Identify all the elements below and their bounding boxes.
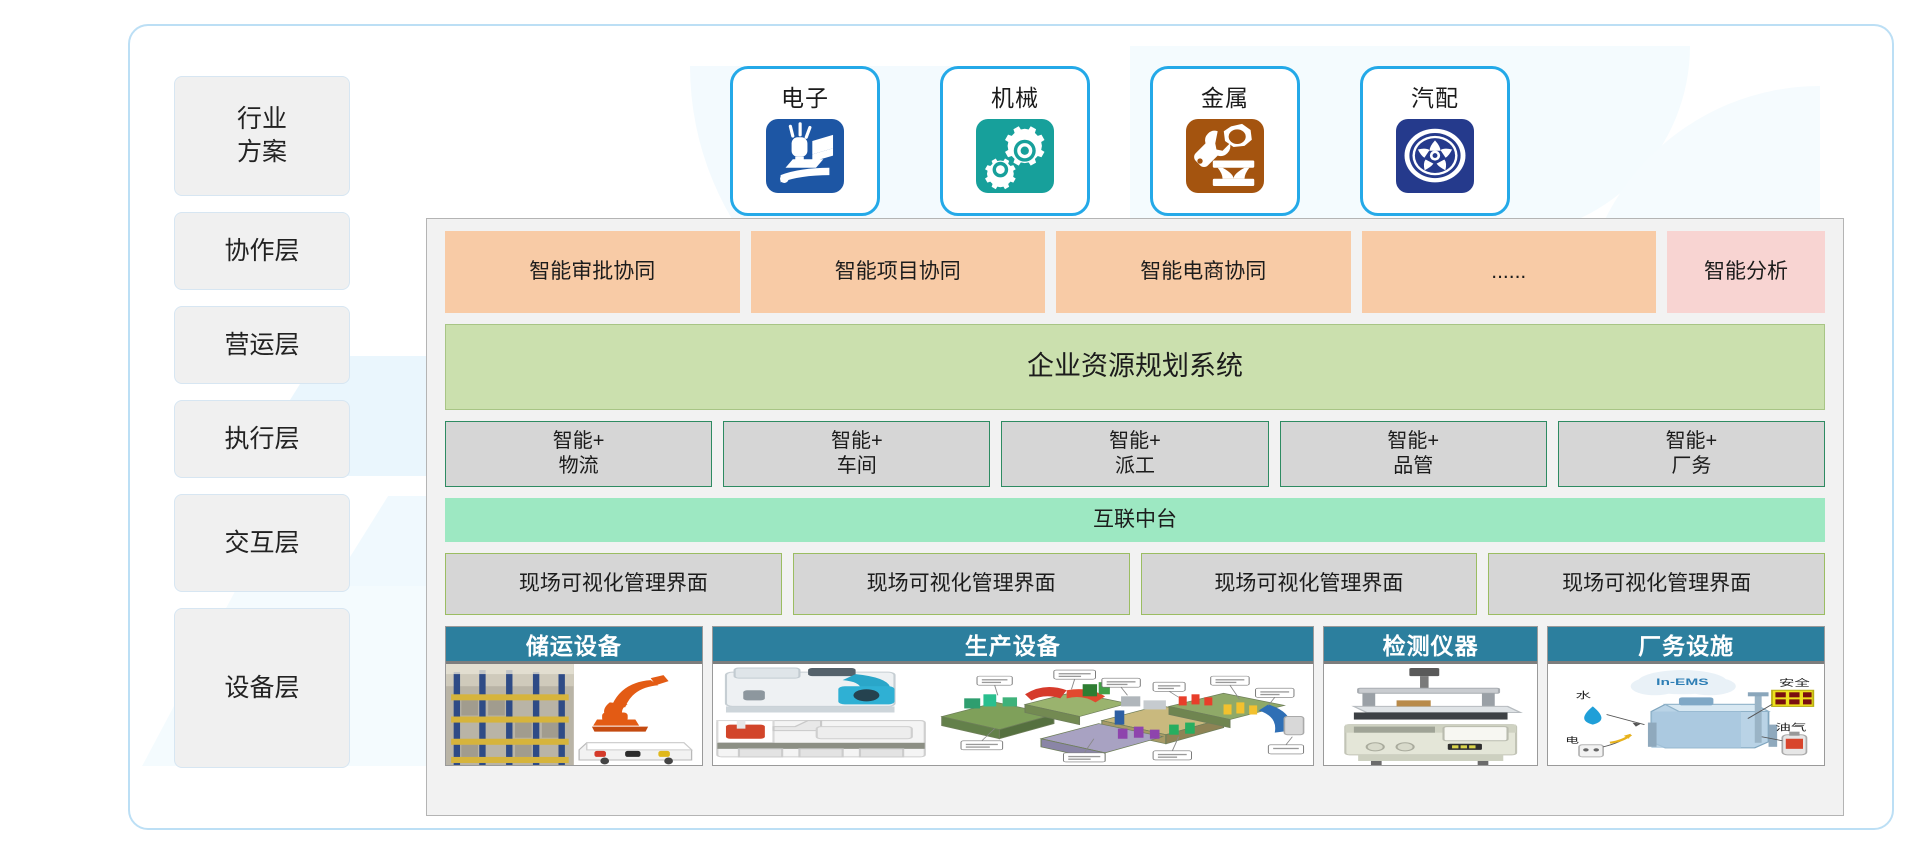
sidebar-item-label: 营运层 xyxy=(224,329,299,362)
warehouse-racking-photo xyxy=(446,664,574,765)
architecture-stack-panel: 智能审批协同 智能项目协同 智能电商协同 ...... 智能分析 企业资源规划系… xyxy=(426,218,1844,816)
wheel-rim-icon xyxy=(1396,119,1474,193)
svg-text:电: 电 xyxy=(1566,736,1580,745)
sidebar-item-label: 执行层 xyxy=(224,423,299,456)
industry-card-metal[interactable]: 金属 xyxy=(1150,66,1300,216)
sidebar-item-operation-layer[interactable]: 营运层 xyxy=(174,306,350,384)
operation-layer-row: 企业资源规划系统 xyxy=(445,324,1825,410)
svg-text:油气: 油气 xyxy=(1776,722,1807,733)
factory-layout-3d-diagram xyxy=(929,664,1313,765)
equipment-images xyxy=(446,661,702,765)
cmm-and-tester-photo xyxy=(1324,664,1537,765)
exec-cell-logistics[interactable]: 智能+ 物流 xyxy=(445,421,712,487)
equipment-column-title: 厂务设施 xyxy=(1548,627,1824,661)
equipment-layer-row: 储运设备 xyxy=(445,626,1825,766)
equipment-column-inspection[interactable]: 检测仪器 xyxy=(1323,626,1538,766)
sidebar-item-industry-solutions[interactable]: 行业 方案 xyxy=(174,76,350,196)
collab-cell-ecommerce[interactable]: 智能电商协同 xyxy=(1056,231,1351,313)
sidebar-item-execution-layer[interactable]: 执行层 xyxy=(174,400,350,478)
industry-card-auto-parts[interactable]: 汽配 xyxy=(1360,66,1510,216)
equipment-column-facility[interactable]: 厂务设施 In-EMS xyxy=(1547,626,1825,766)
svg-text:In-EMS: In-EMS xyxy=(1656,677,1708,687)
wrench-anvil-icon xyxy=(1186,119,1264,193)
industry-card-label: 机械 xyxy=(991,79,1039,113)
electronics-icon xyxy=(766,119,844,193)
equipment-column-title: 生产设备 xyxy=(713,627,1313,661)
equipment-images xyxy=(1324,661,1537,765)
industry-card-label: 金属 xyxy=(1201,79,1249,113)
equipment-column-storage[interactable]: 储运设备 xyxy=(445,626,703,766)
interaction-cell-2[interactable]: 现场可视化管理界面 xyxy=(793,553,1130,615)
industry-card-label: 电子 xyxy=(781,79,829,113)
exec-cell-quality[interactable]: 智能+ 品管 xyxy=(1280,421,1547,487)
industry-card-machinery[interactable]: 机械 xyxy=(940,66,1090,216)
sidebar-item-interaction-layer[interactable]: 交互层 xyxy=(174,494,350,592)
interaction-cell-4[interactable]: 现场可视化管理界面 xyxy=(1488,553,1825,615)
equipment-column-title: 储运设备 xyxy=(446,627,702,661)
middleware-row: 互联中台 xyxy=(445,498,1825,542)
equipment-images xyxy=(713,661,1313,765)
exec-cell-dispatch[interactable]: 智能+ 派工 xyxy=(1001,421,1268,487)
cnc-lathe-and-injection-molder-photo xyxy=(713,664,929,765)
collab-cell-more[interactable]: ...... xyxy=(1362,231,1657,313)
industry-card-row: 电子 xyxy=(730,66,1510,216)
svg-text:安全: 安全 xyxy=(1779,678,1810,689)
industry-card-label: 汽配 xyxy=(1411,79,1459,113)
exec-cell-workshop[interactable]: 智能+ 车间 xyxy=(723,421,990,487)
sidebar-item-collaboration-layer[interactable]: 协作层 xyxy=(174,212,350,290)
collab-cell-project[interactable]: 智能项目协同 xyxy=(751,231,1046,313)
gears-icon xyxy=(976,119,1054,193)
layer-rail: 行业 方案 协作层 营运层 执行层 交互层 设备层 xyxy=(174,76,350,784)
collab-cell-analytics[interactable]: 智能分析 xyxy=(1667,231,1825,313)
svg-text:水: 水 xyxy=(1576,690,1592,700)
middleware-band[interactable]: 互联中台 xyxy=(445,498,1825,542)
erp-band[interactable]: 企业资源规划系统 xyxy=(445,324,1825,410)
industry-card-electronics[interactable]: 电子 xyxy=(730,66,880,216)
interaction-cell-3[interactable]: 现场可视化管理界面 xyxy=(1141,553,1478,615)
sidebar-item-label: 协作层 xyxy=(224,235,299,268)
collab-cell-approval[interactable]: 智能审批协同 xyxy=(445,231,740,313)
sidebar-item-label: 交互层 xyxy=(224,527,299,560)
interaction-cell-1[interactable]: 现场可视化管理界面 xyxy=(445,553,782,615)
sidebar-item-label: 行业 方案 xyxy=(237,103,287,169)
exec-cell-facility[interactable]: 智能+ 厂务 xyxy=(1558,421,1825,487)
sidebar-item-label: 设备层 xyxy=(224,672,299,705)
collaboration-layer-row: 智能审批协同 智能项目协同 智能电商协同 ...... 智能分析 xyxy=(445,231,1825,313)
diagram-root: 行业 方案 协作层 营运层 执行层 交互层 设备层 电子 xyxy=(0,0,1920,854)
equipment-images: In-EMS xyxy=(1548,661,1824,765)
equipment-column-production[interactable]: 生产设备 xyxy=(712,626,1314,766)
interaction-layer-row: 现场可视化管理界面 现场可视化管理界面 现场可视化管理界面 现场可视化管理界面 xyxy=(445,553,1825,615)
sidebar-item-equipment-layer[interactable]: 设备层 xyxy=(174,608,350,768)
outer-frame: 行业 方案 协作层 营运层 执行层 交互层 设备层 电子 xyxy=(128,24,1894,830)
robot-arm-and-agv-photo xyxy=(574,664,702,765)
equipment-column-title: 检测仪器 xyxy=(1324,627,1537,661)
in-ems-utility-diagram: In-EMS xyxy=(1548,664,1824,765)
execution-layer-row: 智能+ 物流 智能+ 车间 智能+ 派工 智能+ 品管 智能+ 厂务 xyxy=(445,421,1825,487)
